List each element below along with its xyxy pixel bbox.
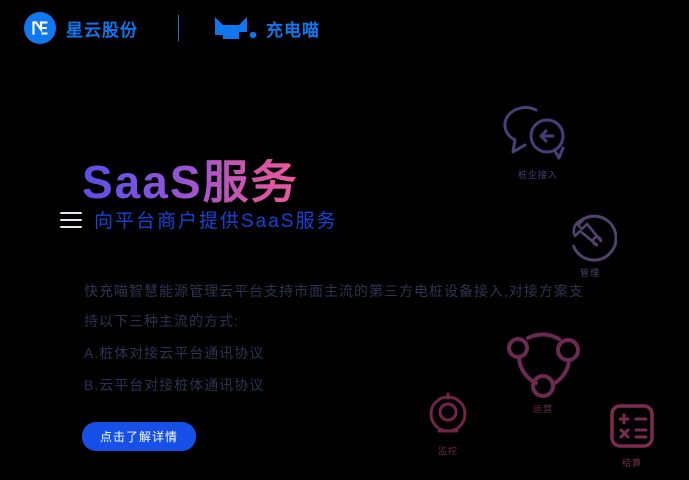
feature-monitor[interactable]: 监控	[425, 392, 471, 457]
vertical-divider	[178, 15, 179, 41]
camera-monitor-icon	[425, 392, 471, 440]
speech-bubbles-arrow-icon	[503, 104, 573, 164]
feature-chat[interactable]: 桩企接入	[503, 104, 573, 181]
feature-share[interactable]: 运营	[503, 328, 583, 415]
page-root: 星云股份 充电喵 SaaS服务 向平台商户提供SaaS服务 快充喵智慧能源管理云…	[0, 0, 689, 480]
feature-manage-label: 管理	[580, 266, 600, 279]
share-network-nodes-icon	[503, 328, 583, 398]
cat-ears-charge-logo-icon	[213, 15, 259, 41]
site-header: 星云股份 充电喵	[0, 0, 689, 56]
hero-paragraph: 快充喵智慧能源管理云平台支持市面主流的第三方电桩设备接入,对接方案支持以下三种主…	[84, 276, 584, 336]
brand-secondary[interactable]: 充电喵	[213, 15, 320, 41]
brand-primary[interactable]: 星云股份	[24, 12, 138, 44]
hero-subtitle: 向平台商户提供SaaS服务	[94, 206, 337, 233]
feature-settle-label: 结算	[622, 456, 642, 469]
feature-chat-label: 桩企接入	[518, 168, 558, 181]
wrench-gear-icon	[563, 208, 617, 262]
brand-secondary-name: 充电喵	[266, 16, 320, 41]
hero-subtitle-row: 向平台商户提供SaaS服务	[60, 206, 337, 233]
feature-settle[interactable]: 结算	[606, 402, 658, 469]
circle-ne-logo-icon	[24, 12, 56, 44]
feature-monitor-label: 监控	[438, 444, 458, 457]
feature-share-label: 运营	[533, 402, 553, 415]
brand-primary-name: 星云股份	[66, 16, 138, 41]
feature-manage[interactable]: 管理	[563, 208, 617, 279]
calculator-icon	[606, 402, 658, 452]
page-title: SaaS服务	[82, 159, 299, 205]
hamburger-menu-icon[interactable]	[60, 212, 82, 228]
learn-more-button[interactable]: 点击了解详情	[82, 422, 196, 451]
